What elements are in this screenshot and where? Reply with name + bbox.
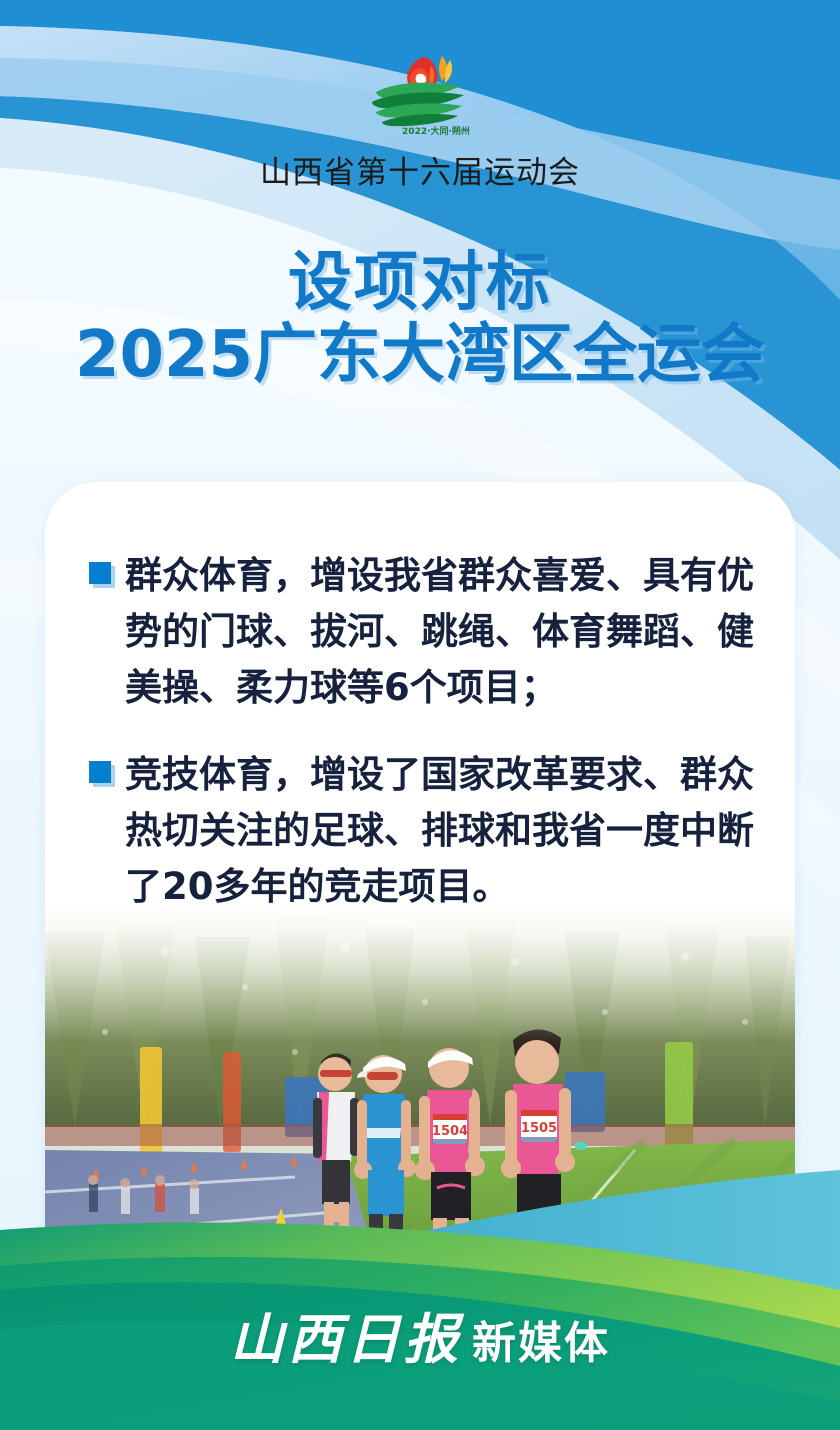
event-subtitle: 山西省第十六届运动会 <box>0 147 840 192</box>
publisher-name-calligraphy: 山西日报 <box>230 1307 462 1371</box>
blue-square-bullet-icon <box>89 761 111 783</box>
publisher-subtitle: 新媒体 <box>472 1318 610 1369</box>
poster-root: 2022·大同·朔州 山西省第十六届运动会 设项对标 2025广东大湾区全运会 … <box>0 0 840 1430</box>
title-line-1: 设项对标 <box>0 248 840 320</box>
bullet-list: 群众体育，增设我省群众喜爱、具有优势的门球、拔河、跳绳、体育舞蹈、健美操、柔力球… <box>45 482 795 915</box>
footer-waves: 山西日报新媒体 <box>0 1170 840 1430</box>
title-line-2: 2025广东大湾区全运会 <box>0 320 840 392</box>
bullet-text: 竞技体育，增设了国家改革要求、群众热切关注的足球、排球和我省一度中断了20多年的… <box>125 747 759 916</box>
page-title: 设项对标 2025广东大湾区全运会 <box>0 248 840 391</box>
bullet-text: 群众体育，增设我省群众喜爱、具有优势的门球、拔河、跳绳、体育舞蹈、健美操、柔力球… <box>125 548 759 717</box>
blue-square-bullet-icon <box>89 562 111 584</box>
list-item: 竞技体育，增设了国家改革要求、群众热切关注的足球、排球和我省一度中断了20多年的… <box>67 747 759 916</box>
list-item: 群众体育，增设我省群众喜爱、具有优势的门球、拔河、跳绳、体育舞蹈、健美操、柔力球… <box>67 548 759 717</box>
publisher-logo: 山西日报新媒体 <box>0 1295 840 1374</box>
